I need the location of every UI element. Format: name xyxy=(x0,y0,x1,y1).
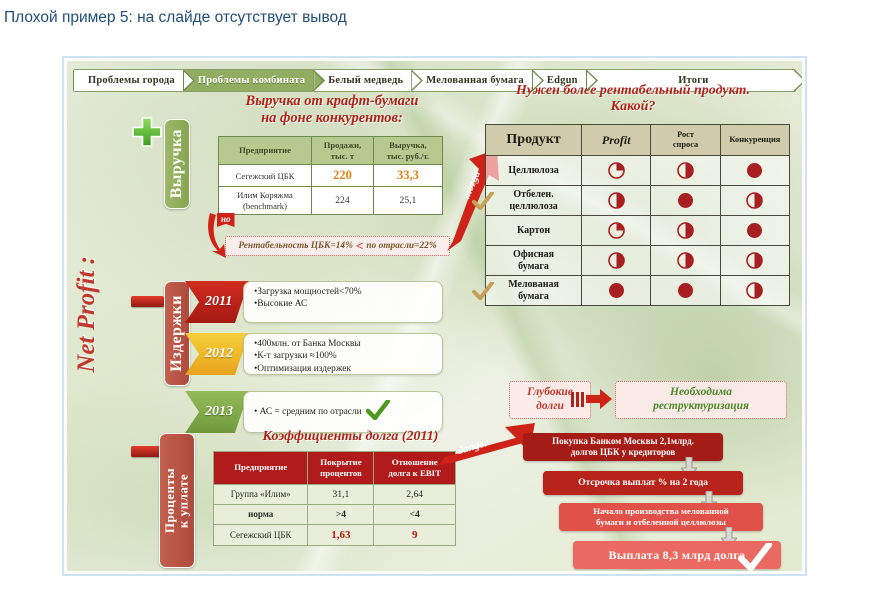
timeline-bullet: •Высокие АС xyxy=(254,298,436,310)
pause-bars-icon xyxy=(571,392,584,407)
right-arrow-icon xyxy=(586,389,612,409)
revenue-col-header-2: Продажи,тыс. т xyxy=(312,137,374,165)
profit-ball xyxy=(582,156,651,186)
product-cell-name: Картон xyxy=(486,216,582,246)
competition-ball xyxy=(720,216,789,246)
slide-frame: Проблемы городаПроблемы комбинатаБелый м… xyxy=(62,56,807,576)
product-label: Мелованаябумага xyxy=(508,279,559,302)
table-row: норма>4<4 xyxy=(214,504,456,524)
demand-ball xyxy=(651,216,720,246)
timeline-bullet: •Загрузка мощностей<70% xyxy=(254,286,436,298)
deep-debts-line2: долги xyxy=(527,400,573,414)
table-row: Илим Коряжма(benchmark)22425,1 xyxy=(219,187,443,215)
demand-ball xyxy=(651,186,720,216)
competition-ball xyxy=(720,276,789,306)
revenue-col-header-3: Выручка,тыс. руб./т. xyxy=(373,137,442,165)
revenue-col-header-1: Предприятие xyxy=(219,137,312,165)
profit-ball xyxy=(582,246,651,276)
timeline-bullet: • АС = средним по отрасли xyxy=(254,406,362,418)
restructuring-line1: Необходима xyxy=(653,386,749,400)
demand-ball xyxy=(651,156,720,186)
debt-cell-ratio: 9 xyxy=(374,524,456,545)
net-profit-text: Net Profit : xyxy=(73,256,101,373)
restructuring-box: Необходима реструктуризация xyxy=(615,381,787,419)
revenue-cell-name: Сегежский ЦБК xyxy=(219,165,312,187)
debt-col-header-2: Покрытиепроцентов xyxy=(308,452,374,485)
revenue-cell-revenue: 33,3 xyxy=(373,165,442,187)
year-chevron-2011: 2011 xyxy=(185,281,249,323)
debt-cell-ratio: <4 xyxy=(374,504,456,524)
product-cell-name: Отбелен.целлюлоза xyxy=(486,186,582,216)
interest-vertical-label: Процентык уплате xyxy=(159,433,195,568)
cascade-step-text: Отсрочка выплат % на 2 года xyxy=(578,477,708,489)
breadcrumb-item-1[interactable]: Проблемы города xyxy=(74,70,184,91)
debt-cell-name: Сегежский ЦБК xyxy=(214,524,308,545)
timeline-bullet: •400млн. от Банка Москвы xyxy=(254,338,436,350)
deep-debts-line1: Глубокие xyxy=(527,386,573,400)
less-than-icon: < xyxy=(353,238,366,254)
profit-ball xyxy=(582,276,651,306)
product-col-header-3: Ростспроса xyxy=(651,125,720,156)
product-col-header-2: Profit xyxy=(582,125,651,156)
check-icon xyxy=(472,282,494,304)
breadcrumb-item-2[interactable]: Проблемы комбината xyxy=(184,70,314,91)
competition-ball xyxy=(720,246,789,276)
net-profit-label: Net Profit : xyxy=(73,256,153,426)
product-table-header-row: ПродуктProfitРостспросаКонкуренция xyxy=(486,125,790,156)
check-icon xyxy=(472,192,494,214)
product-col-header-4: Конкуренция xyxy=(720,125,789,156)
revenue-title-line1: Выручка от крафт-бумаги xyxy=(218,93,446,110)
breadcrumb-item-3[interactable]: Белый медведь xyxy=(314,70,412,91)
debt-cell-ratio: 2,64 xyxy=(374,484,456,504)
check-icon xyxy=(735,543,775,571)
revenue-cell-sales: 224 xyxy=(312,187,374,215)
product-label: Офиснаябумага xyxy=(513,249,554,272)
demand-ball xyxy=(651,276,720,306)
debt-table: ПредприятиеПокрытиепроцентовОтношениедол… xyxy=(213,451,456,546)
competition-ball xyxy=(720,156,789,186)
timeline-bullets-2012: •400млн. от Банка Москвы•К-т загрузки ≈1… xyxy=(243,333,443,375)
debt-title: Коэффициенты долга (2011) xyxy=(243,429,458,445)
table-row: Целлюлоза xyxy=(486,156,790,186)
debt-table-header-row: ПредприятиеПокрытиепроцентовОтношениедол… xyxy=(214,452,456,485)
year-chevron-2012: 2012 xyxy=(185,333,249,375)
profit-ball xyxy=(582,186,651,216)
restructuring-line2: реструктуризация xyxy=(653,400,749,414)
product-cell-name: Офиснаябумага xyxy=(486,246,582,276)
revenue-table: ПредприятиеПродажи,тыс. тВыручка,тыс. ру… xyxy=(218,136,443,215)
competition-ball xyxy=(720,186,789,216)
check-icon xyxy=(366,400,390,424)
debt-cell-coverage: 31,1 xyxy=(308,484,374,504)
revenue-title: Выручка от крафт-бумаги на фоне конкурен… xyxy=(218,93,446,126)
product-label: Картон xyxy=(517,225,550,236)
product-cell-name: Целлюлоза xyxy=(486,156,582,186)
debt-cell-name: норма xyxy=(214,504,308,524)
debt-cell-coverage: 1,63 xyxy=(308,524,374,545)
profitability-note: Рентабельность ЦБК=14% < по отрасли=22% xyxy=(225,236,450,256)
breadcrumb-label: Белый медведь xyxy=(328,75,403,86)
table-row: Офиснаябумага xyxy=(486,246,790,276)
table-row: Сегежский ЦБК22033,3 xyxy=(219,165,443,187)
breadcrumb-label: Проблемы комбината xyxy=(198,75,305,86)
revenue-table-header-row: ПредприятиеПродажи,тыс. тВыручка,тыс. ру… xyxy=(219,137,443,165)
table-row: Мелованаябумага xyxy=(486,276,790,306)
debt-cell-name: Группа «Илим» xyxy=(214,484,308,504)
debt-table-body: Группа «Илим»31,12,64норма>4<4Сегежский … xyxy=(214,484,456,545)
plus-icon xyxy=(130,116,164,150)
cascade-step-text: Начало производства мелованнойбумаги и о… xyxy=(593,506,728,527)
profitability-note-prefix: Рентабельность ЦБК=14% xyxy=(238,241,353,251)
demand-ball xyxy=(651,246,720,276)
revenue-title-line2: на фоне конкурентов: xyxy=(218,110,446,127)
product-label: Отбелен.целлюлоза xyxy=(509,189,557,212)
timeline-bullets-2011: •Загрузка мощностей<70%•Высокие АС xyxy=(243,281,443,323)
table-row: Картон xyxy=(486,216,790,246)
revenue-table-body: Сегежский ЦБК22033,3Илим Коряжма(benchma… xyxy=(219,165,443,215)
product-title: Нужен более рентабельный продукт. Какой? xyxy=(473,83,793,115)
page-title: Плохой пример 5: на слайде отсутствует в… xyxy=(4,9,347,27)
table-row: Отбелен.целлюлоза xyxy=(486,186,790,216)
debt-col-header-1: Предприятие xyxy=(214,452,308,485)
breadcrumb-label: Проблемы города xyxy=(88,75,175,86)
year-chevron-2013: 2013 xyxy=(185,391,249,433)
product-label: Целлюлоза xyxy=(508,165,558,176)
product-table: ПродуктProfitРостспросаКонкуренция Целлю… xyxy=(485,124,790,306)
debt-cell-coverage: >4 xyxy=(308,504,374,524)
timeline-bullet: •К-т загрузки ≈100% xyxy=(254,350,436,362)
danger-arrow-icon xyxy=(439,423,535,471)
product-title-line2: Какой? xyxy=(473,99,793,115)
product-table-body: ЦеллюлозаОтбелен.целлюлозаКартонОфиснаяб… xyxy=(486,156,790,306)
product-col-header-1: Продукт xyxy=(486,125,582,156)
cascade-step-text: Выплата 8,3 млрд долга xyxy=(609,548,746,562)
profit-ball xyxy=(582,216,651,246)
revenue-vertical-label: Выручка xyxy=(164,119,190,209)
table-row: Группа «Илим»31,12,64 xyxy=(214,484,456,504)
product-title-line1: Нужен более рентабельный продукт. xyxy=(473,83,793,99)
cascade-step-text: Покупка Банком Москвы 2,1млрд.долгов ЦБК… xyxy=(552,436,694,458)
revenue-cell-sales: 220 xyxy=(312,165,374,187)
slide-canvas: Проблемы городаПроблемы комбинатаБелый м… xyxy=(67,61,802,571)
profitability-note-suffix: по отрасли=22% xyxy=(366,241,436,251)
chevron-right-icon xyxy=(794,70,802,91)
timeline-bullet: •Оптимизация издержек xyxy=(254,363,436,375)
minus-icon-costs xyxy=(131,296,164,307)
revenue-cell-revenue: 25,1 xyxy=(373,187,442,215)
product-cell-name: Мелованаябумага xyxy=(486,276,582,306)
table-row: Сегежский ЦБК1,639 xyxy=(214,524,456,545)
timeline-bullets-2013: • АС = средним по отрасли xyxy=(243,391,443,433)
